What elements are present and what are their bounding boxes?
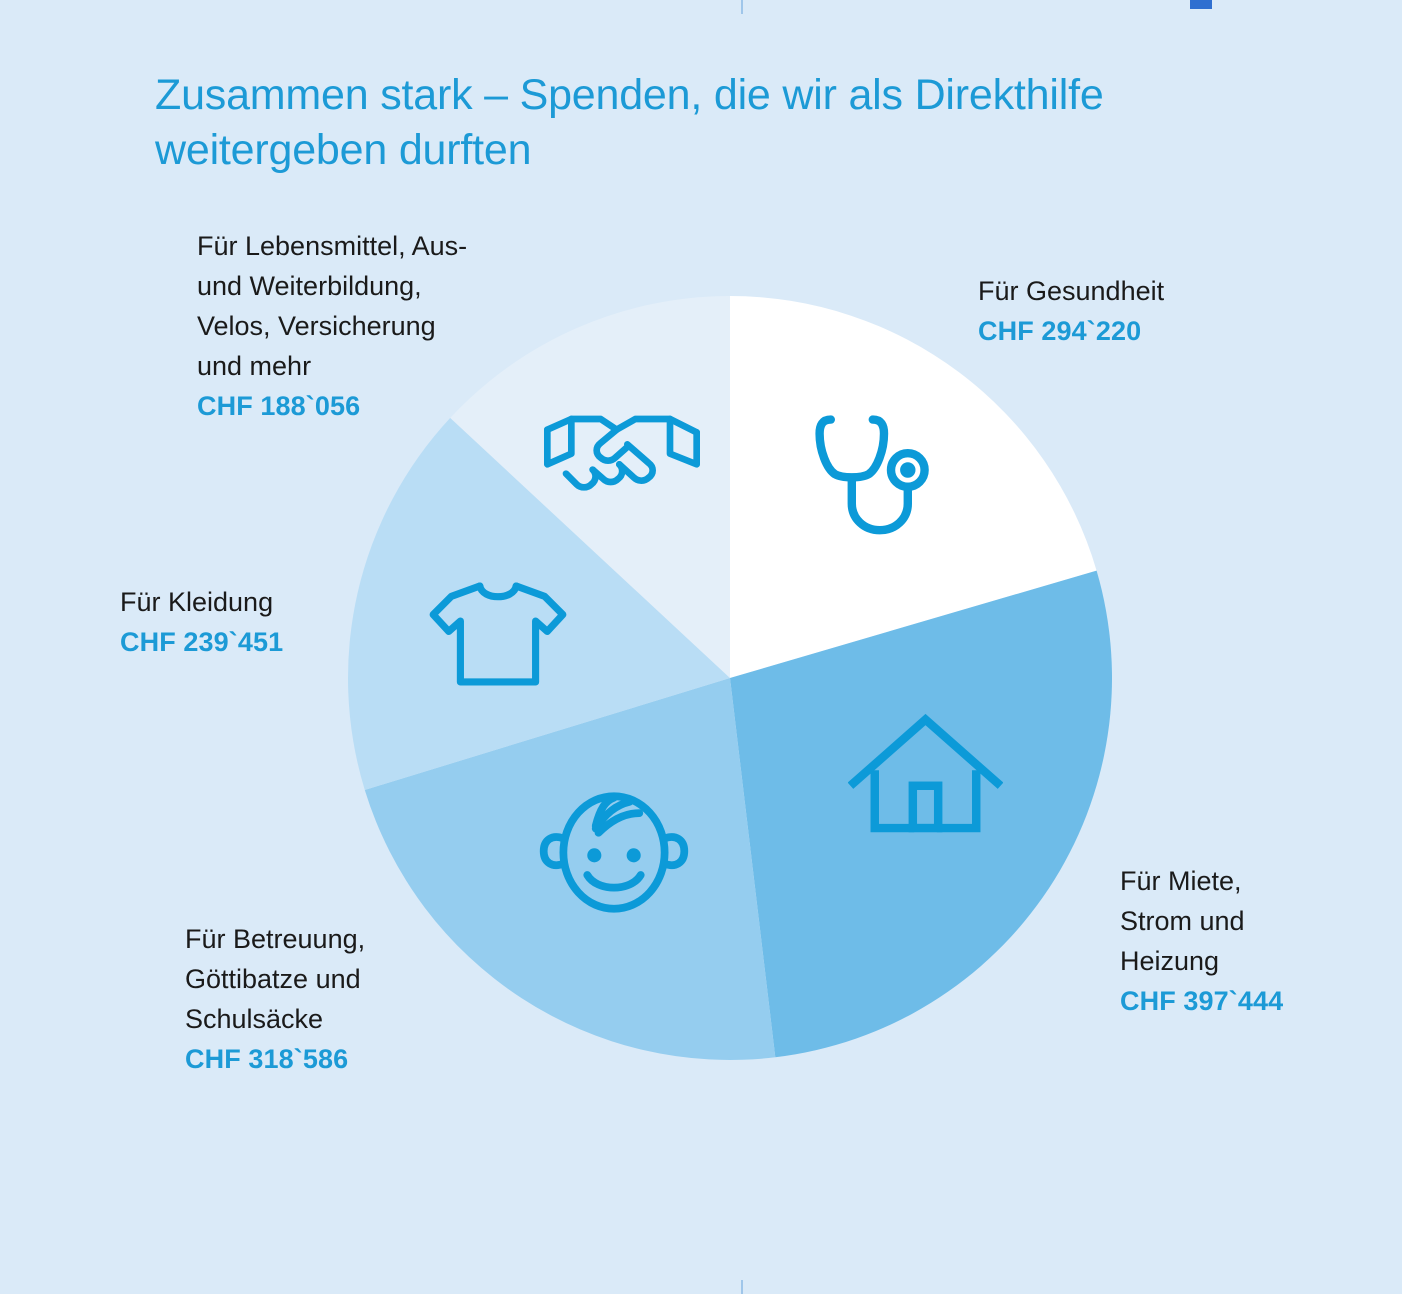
pie-chart-figure: Für Lebensmittel, Aus- und Weiterbildung… [0,0,1402,1294]
label-lebensmittel: Für Lebensmittel, Aus- und Weiterbildung… [197,227,527,427]
label-betreuung: Für Betreuung, Göttibatze und Schulsäcke… [185,920,485,1080]
label-betreuung-amount: CHF 318`586 [185,1040,485,1080]
label-gesundheit: Für Gesundheit CHF 294`220 [978,272,1308,352]
label-betreuung-line1: Für Betreuung, [185,920,485,960]
stethoscope-icon [800,400,940,540]
label-gesundheit-line1: Für Gesundheit [978,272,1308,312]
child-face-icon [538,785,690,920]
label-lebensmittel-line1: Für Lebensmittel, Aus- [197,227,527,267]
label-miete-line2: Strom und [1120,902,1370,942]
label-miete-line1: Für Miete, [1120,862,1370,902]
label-lebensmittel-line4: und mehr [197,347,527,387]
label-betreuung-line3: Schulsäcke [185,1000,485,1040]
label-lebensmittel-line2: und Weiterbildung, [197,267,527,307]
label-kleidung-line1: Für Kleidung [120,583,420,623]
label-kleidung: Für Kleidung CHF 239`451 [120,583,420,663]
label-betreuung-line2: Göttibatze und [185,960,485,1000]
handshake-icon [542,400,702,502]
label-lebensmittel-amount: CHF 188`056 [197,387,527,427]
label-gesundheit-amount: CHF 294`220 [978,312,1308,352]
label-miete-line3: Heizung [1120,942,1370,982]
tshirt-icon [428,578,568,690]
label-lebensmittel-line3: Velos, Versicherung [197,307,527,347]
label-miete: Für Miete, Strom und Heizung CHF 397`444 [1120,862,1370,1022]
label-miete-amount: CHF 397`444 [1120,982,1370,1022]
house-icon [848,712,1003,837]
label-kleidung-amount: CHF 239`451 [120,623,420,663]
